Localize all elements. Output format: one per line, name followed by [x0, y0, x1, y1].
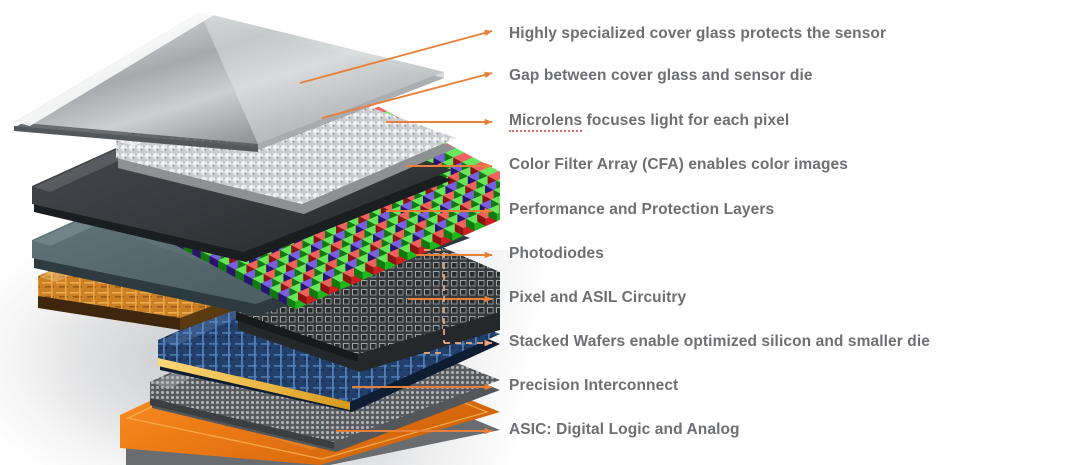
callout-label-asic: ASIC: Digital Logic and Analog	[509, 422, 740, 438]
misspelled-word: Microlens	[509, 112, 582, 132]
callout-label-cover-glass: Highly specialized cover glass protects …	[509, 26, 886, 42]
callout-label-microlens: Microlens focuses light for each pixel	[509, 113, 789, 129]
callout-label-cfa: Color Filter Array (CFA) enables color i…	[509, 157, 848, 173]
callout-label-pixel-asil: Pixel and ASIL Circuitry	[509, 290, 686, 306]
callout-label-stacked-wafers: Stacked Wafers enable optimized silicon …	[509, 334, 930, 350]
callout-label-gap: Gap between cover glass and sensor die	[509, 68, 813, 84]
callout-label-interconnect: Precision Interconnect	[509, 378, 678, 394]
diagram-canvas: Highly specialized cover glass protects …	[0, 0, 1080, 465]
callout-label-photodiodes: Photodiodes	[509, 246, 604, 262]
callout-label-protection-layers: Performance and Protection Layers	[509, 202, 774, 218]
callout-label-microlens-rest: focuses light for each pixel	[582, 112, 789, 129]
sensor-stack-illustration	[0, 0, 500, 465]
